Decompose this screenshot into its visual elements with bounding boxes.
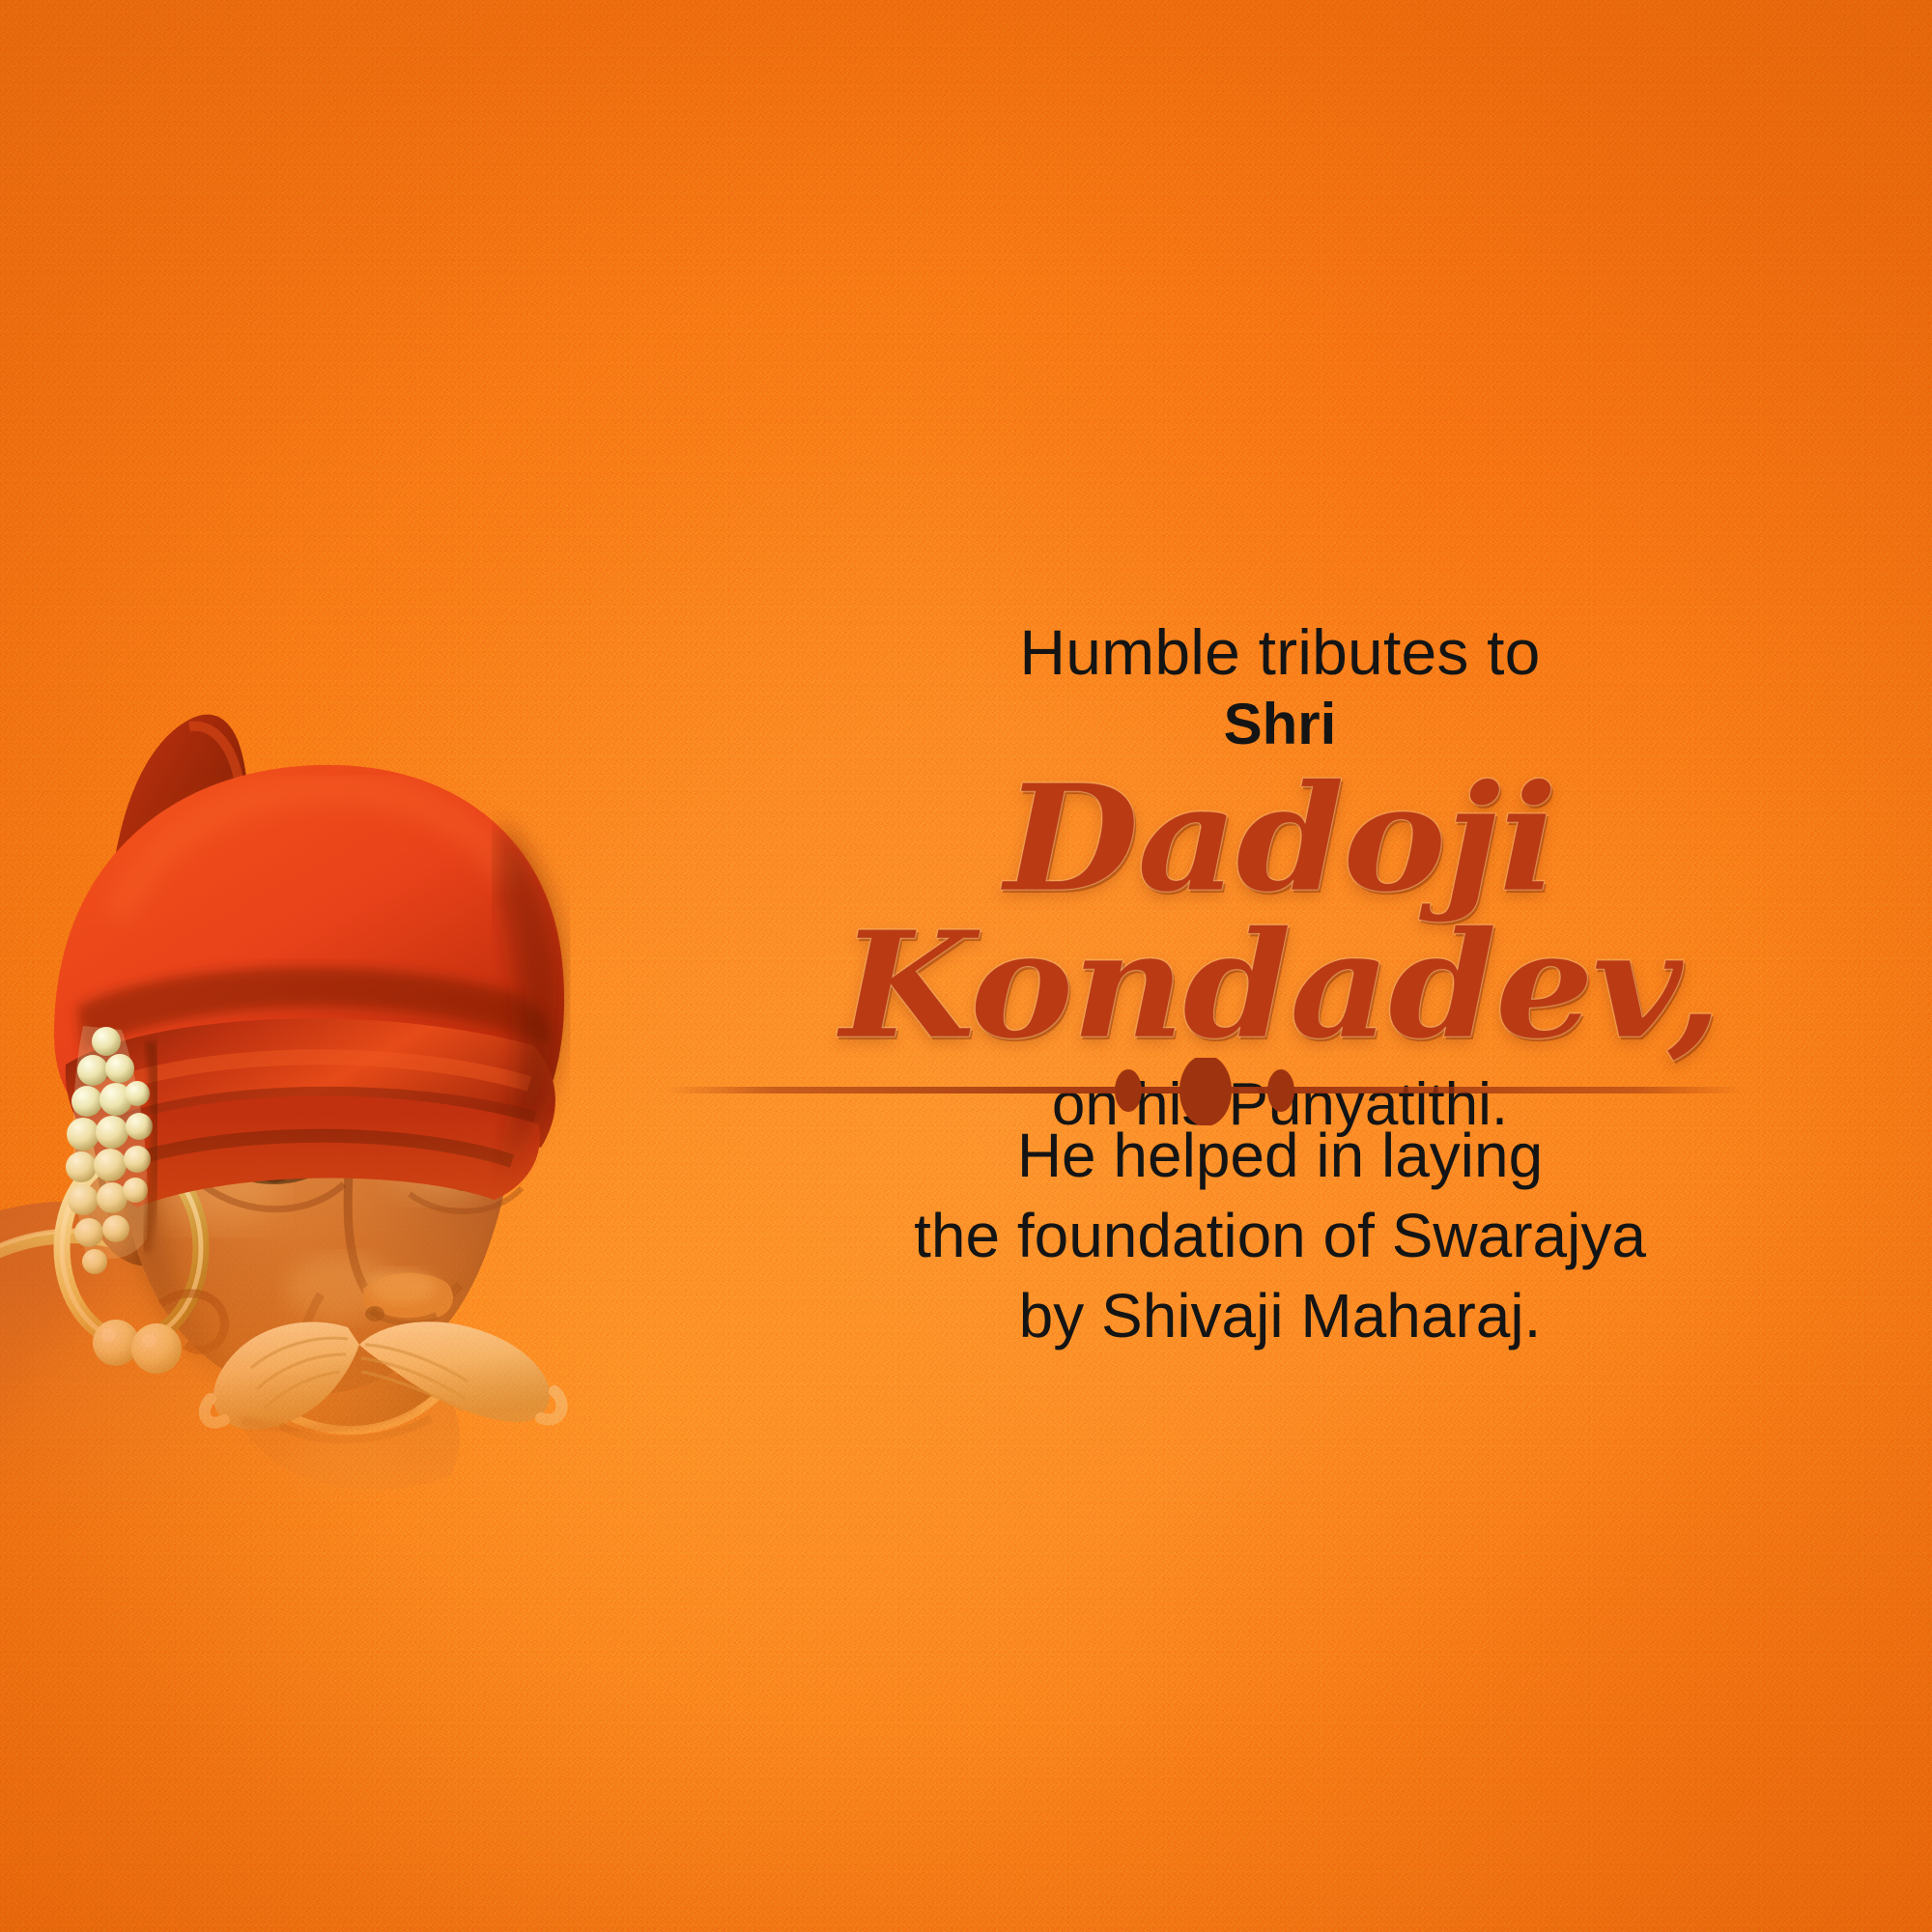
tribute-poster: Humble tributes to Shri Dadoji Kondadev,… <box>0 0 1932 1932</box>
tribute-name: Dadoji Kondadev, <box>630 765 1930 1059</box>
tribute-line-humble: Humble tributes to <box>667 618 1893 687</box>
description-line-1: He helped in laying <box>667 1116 1893 1196</box>
description-line-2: the foundation of Swarajya <box>667 1196 1893 1276</box>
description-line-3: by Shivaji Maharaj. <box>667 1276 1893 1356</box>
divider-dot-right <box>1267 1069 1294 1112</box>
portrait-illustration <box>0 415 638 1536</box>
tribute-honorific: Shri <box>667 691 1893 759</box>
description-block: He helped in laying the foundation of Sw… <box>667 1116 1893 1357</box>
divider-dot-left <box>1115 1069 1142 1112</box>
